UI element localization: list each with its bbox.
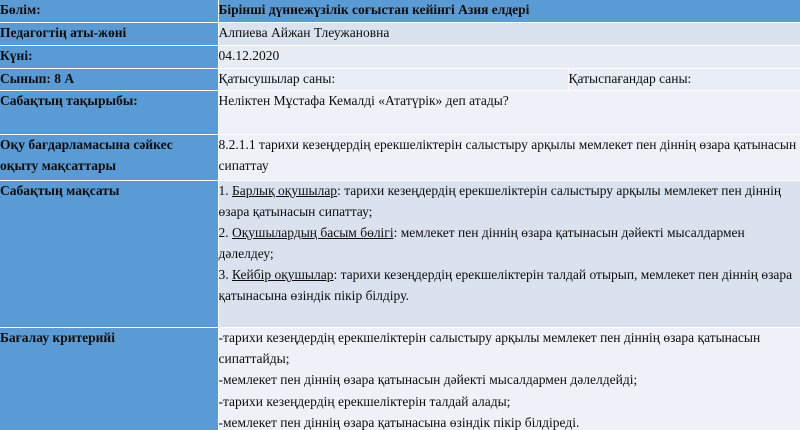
row-value-date: 04.12.2020 xyxy=(218,46,800,69)
row-label-topic: Сабақтың тақырыбы: xyxy=(0,91,218,135)
row-label-lesson-goal: Сабақтың мақсаты xyxy=(0,181,218,328)
table-row: Күні: 04.12.2020 xyxy=(0,46,800,69)
row-label-class: Сынып: 8 А xyxy=(0,69,218,91)
row-value-present-count: Қатысушылар саны: xyxy=(218,69,568,91)
row-value-absent-count: Қатыспағандар саны: xyxy=(568,69,800,91)
list-item: 2. Оқушылардың басым бөлігі: мемлекет пе… xyxy=(219,223,800,264)
row-label-curriculum-objectives: Оқу бағдарламасына сәйкес оқыту мақсатта… xyxy=(0,135,218,181)
criteria-line: -мемлекет пен діннің өзара қатынасын дәй… xyxy=(219,370,800,391)
table-row: Сабақтың мақсаты 1. Барлық оқушылар: тар… xyxy=(0,181,800,328)
row-label-date: Күні: xyxy=(0,46,218,69)
criteria-line: -мемлекет пен діннің өзара қатынасына өз… xyxy=(219,413,800,430)
row-label-line1: Оқу бағдарламасына сәйкес xyxy=(0,137,173,152)
table-row: Оқу бағдарламасына сәйкес оқыту мақсатта… xyxy=(0,135,800,181)
row-value-topic: Неліктен Мұстафа Кемалді «Ататүрік» деп … xyxy=(218,91,800,135)
table-row: Педагогтің аты-жөні Алпиева Айжан Тлеужа… xyxy=(0,23,800,46)
row-label-assessment-criteria: Бағалау критерийі xyxy=(0,328,218,430)
list-item-lead: Барлық оқушылар xyxy=(232,183,337,198)
list-item-number: 1. xyxy=(219,183,229,198)
table-row: Бөлім: Бірінші дүниежүзілік соғыстан кей… xyxy=(0,0,800,23)
row-value-section: Бірінші дүниежүзілік соғыстан кейінгі Аз… xyxy=(218,0,800,23)
row-value-assessment-criteria: -тарихи кезеңдердің ерекшеліктерін салыс… xyxy=(218,328,800,430)
list-item-lead: Кейбір оқушылар xyxy=(232,267,333,282)
table-row: Бағалау критерийі -тарихи кезеңдердің ер… xyxy=(0,328,800,430)
lesson-plan-table: Бөлім: Бірінші дүниежүзілік соғыстан кей… xyxy=(0,0,800,430)
list-item-lead: Оқушылардың басым бөлігі xyxy=(232,225,394,240)
criteria-line: -тарихи кезеңдердің ерекшеліктерін талда… xyxy=(219,392,800,413)
list-item: 1. Барлық оқушылар: тарихи кезеңдердің е… xyxy=(219,181,800,222)
row-label-teacher: Педагогтің аты-жөні xyxy=(0,23,218,46)
table-row: Сабақтың тақырыбы: Неліктен Мұстафа Кема… xyxy=(0,91,800,135)
row-value-teacher: Алпиева Айжан Тлеужановна xyxy=(218,23,800,46)
list-item: 3. Кейбір оқушылар: тарихи кезеңдердің е… xyxy=(219,265,800,306)
row-value-curriculum-objectives: 8.2.1.1 тарихи кезеңдердің ерекшеліктері… xyxy=(218,135,800,181)
table-row: Сынып: 8 А Қатысушылар саны: Қатыспағанд… xyxy=(0,69,800,91)
row-label-line2: оқыту мақсаттары xyxy=(0,158,116,173)
lesson-plan-sheet: Stud.kz Stud.kz - Stud.kz .kz Stud.kz d.… xyxy=(0,0,800,430)
criteria-line: -тарихи кезеңдердің ерекшеліктерін салыс… xyxy=(219,328,800,369)
list-item-number: 3. xyxy=(219,267,229,282)
list-item-number: 2. xyxy=(219,225,229,240)
row-value-lesson-goal: 1. Барлық оқушылар: тарихи кезеңдердің е… xyxy=(218,181,800,328)
row-label-section: Бөлім: xyxy=(0,0,218,23)
